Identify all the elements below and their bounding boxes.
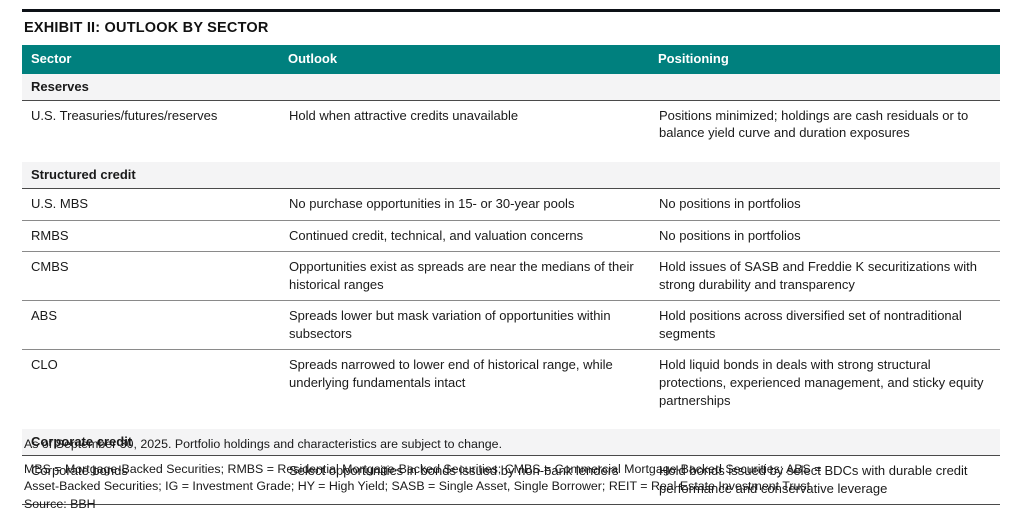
cell-positioning: Hold positions across diversified set of… <box>650 301 1000 350</box>
footnotes: As of September 30, 2025. Portfolio hold… <box>24 436 1009 513</box>
cell-positioning: No positions in portfolios <box>650 189 1000 221</box>
cell-sector: U.S. MBS <box>22 189 280 221</box>
section-label-structured-credit: Structured credit <box>22 155 1000 188</box>
section-label-reserves: Reserves <box>22 74 1000 101</box>
cell-positioning: Hold issues of SASB and Freddie K securi… <box>650 252 1000 301</box>
table-header: Sector Outlook Positioning <box>22 45 1000 74</box>
cell-outlook: Opportunities exist as spreads are near … <box>280 252 650 301</box>
cell-sector: CLO <box>22 350 280 423</box>
cell-outlook: Hold when attractive credits unavailable <box>280 100 650 155</box>
cell-sector: U.S. Treasuries/futures/reserves <box>22 100 280 155</box>
cell-outlook: Spreads narrowed to lower end of histori… <box>280 350 650 423</box>
table-row: ABS Spreads lower but mask variation of … <box>22 301 1000 350</box>
section-header-row: Structured credit <box>22 155 1000 188</box>
cell-outlook: No purchase opportunities in 15- or 30-y… <box>280 189 650 221</box>
table-row: U.S. MBS No purchase opportunities in 15… <box>22 189 1000 221</box>
cell-positioning: Hold liquid bonds in deals with strong s… <box>650 350 1000 423</box>
cell-outlook: Spreads lower but mask variation of oppo… <box>280 301 650 350</box>
cell-positioning: Positions minimized; holdings are cash r… <box>650 100 1000 155</box>
footnote-as-of: As of September 30, 2025. Portfolio hold… <box>24 436 1009 454</box>
footnote-abbreviations-line-2: Asset-Backed Securities; IG = Investment… <box>24 478 1009 496</box>
cell-outlook: Continued credit, technical, and valuati… <box>280 220 650 252</box>
table-row: CMBS Opportunities exist as spreads are … <box>22 252 1000 301</box>
section-header-row: Reserves <box>22 74 1000 101</box>
cell-sector: ABS <box>22 301 280 350</box>
cell-sector: CMBS <box>22 252 280 301</box>
table-row: U.S. Treasuries/futures/reserves Hold wh… <box>22 100 1000 155</box>
cell-sector: RMBS <box>22 220 280 252</box>
table-row: CLO Spreads narrowed to lower end of his… <box>22 350 1000 423</box>
footnote-source: Source: BBH <box>24 496 1009 514</box>
table-row: RMBS Continued credit, technical, and va… <box>22 220 1000 252</box>
column-header-sector: Sector <box>22 45 280 74</box>
cell-positioning: No positions in portfolios <box>650 220 1000 252</box>
exhibit-container: EXHIBIT II: OUTLOOK BY SECTOR Sector Out… <box>22 9 1000 505</box>
exhibit-title: EXHIBIT II: OUTLOOK BY SECTOR <box>22 12 1000 45</box>
footnote-abbreviations-line-1: MBS = Mortgage-Backed Securities; RMBS =… <box>24 461 1009 479</box>
column-header-outlook: Outlook <box>280 45 650 74</box>
column-header-positioning: Positioning <box>650 45 1000 74</box>
table-header-row: Sector Outlook Positioning <box>22 45 1000 74</box>
